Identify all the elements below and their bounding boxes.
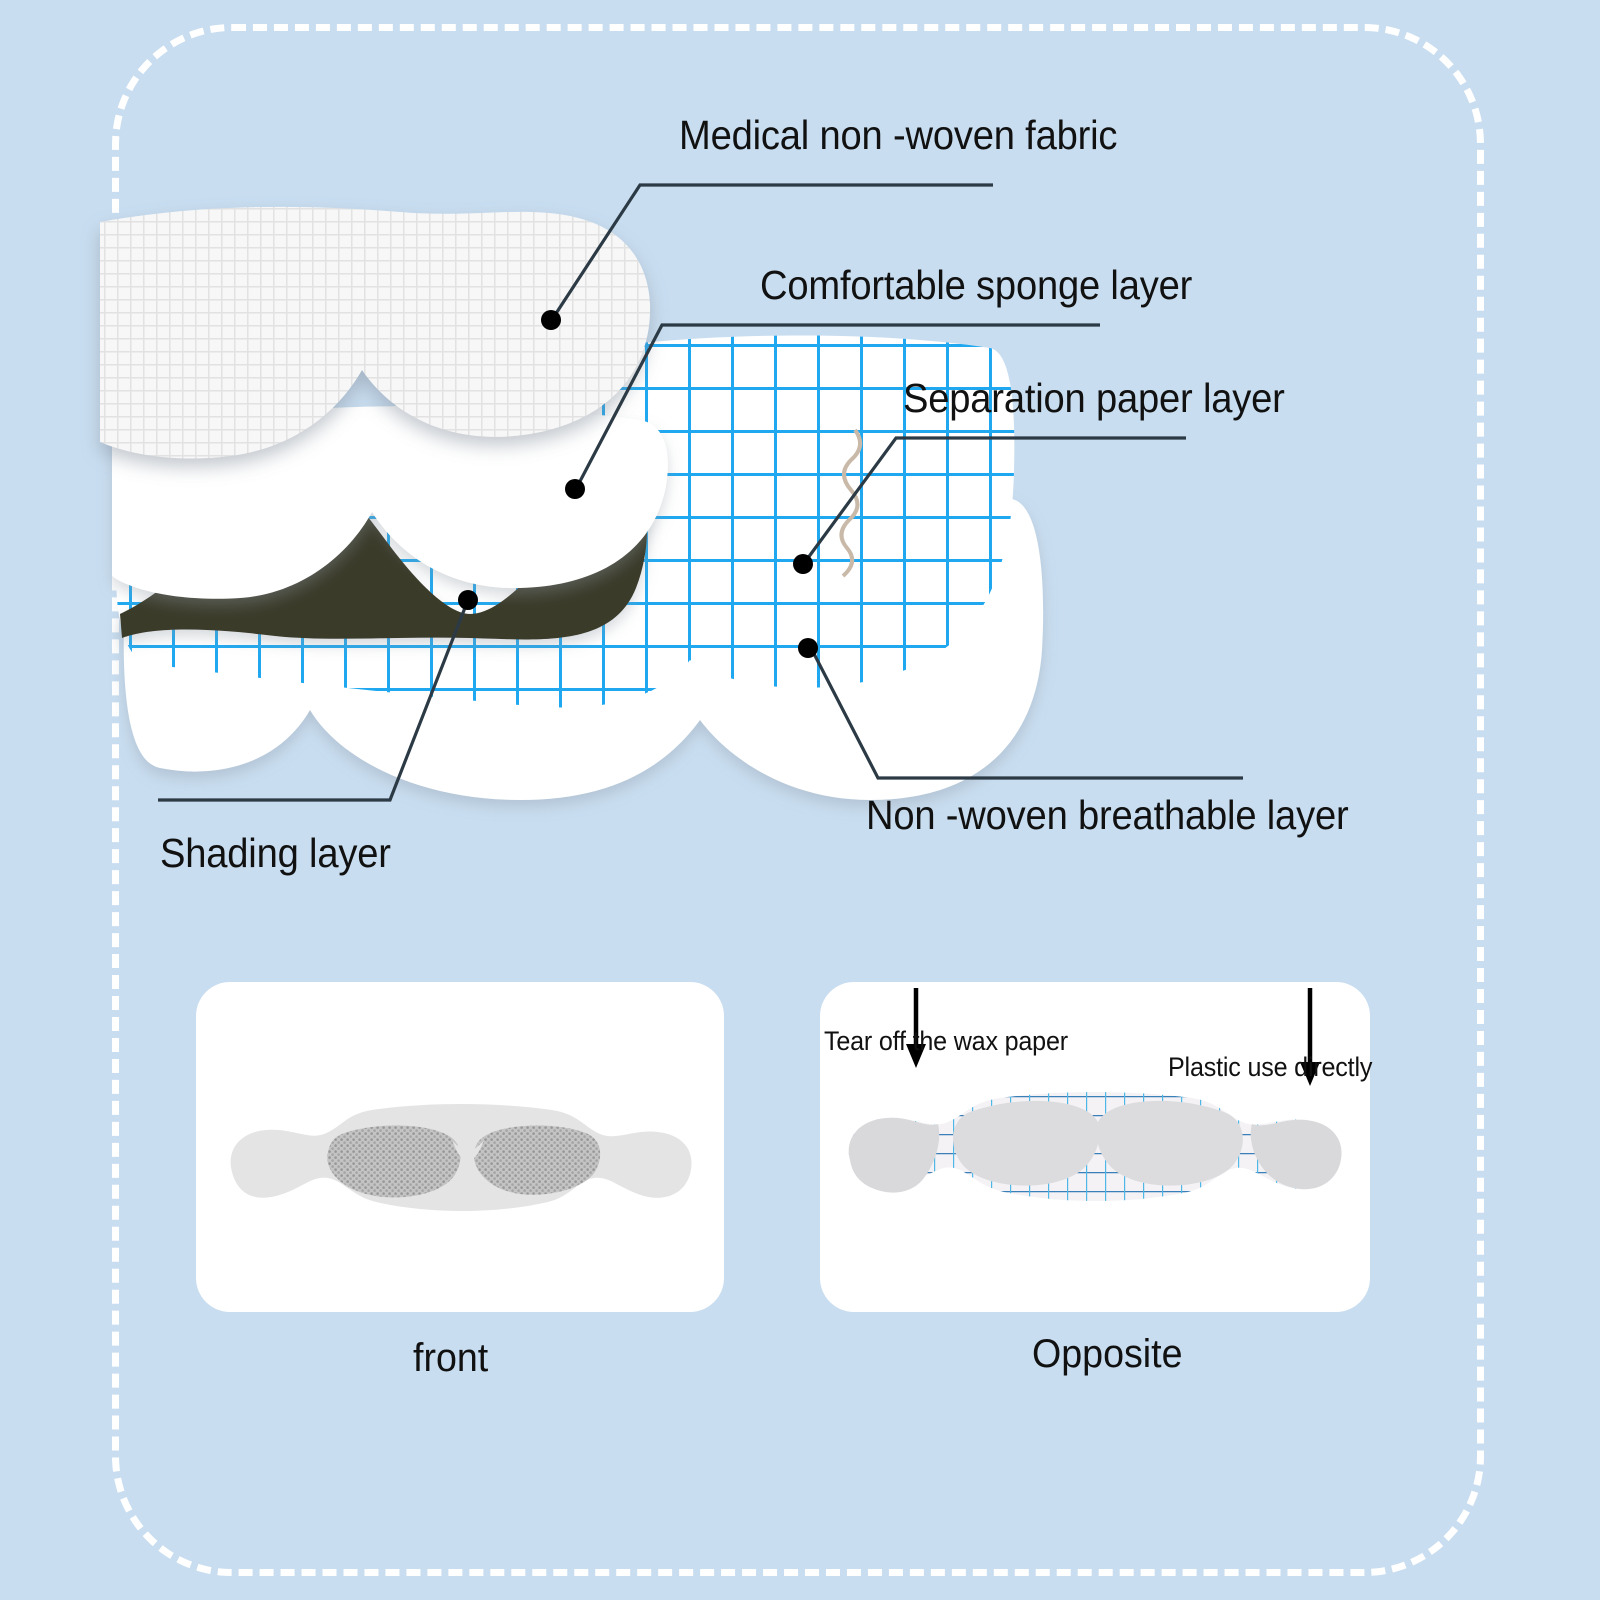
annotation-tear-off-the-wax-paper: Tear off the wax paper <box>824 1028 1068 1055</box>
product-photo-front-card <box>196 982 724 1312</box>
exploded-layer-diagram: Medical non -woven fabric Comfortable sp… <box>0 0 1600 980</box>
label-medical-non-woven-fabric: Medical non -woven fabric <box>679 115 1117 156</box>
dot-comfortable-sponge-layer <box>565 479 585 499</box>
back-peel-tab-left <box>849 1118 939 1193</box>
dot-separation-paper-layer <box>793 554 813 574</box>
label-shading-layer: Shading layer <box>160 833 391 874</box>
front-mask-body <box>231 1104 692 1211</box>
dot-non-woven-breathable-layer <box>798 638 818 658</box>
product-photo-back-card: Tear off the wax paper Plastic use direc… <box>820 982 1370 1312</box>
dot-medical-non-woven-fabric <box>541 310 561 330</box>
label-comfortable-sponge-layer: Comfortable sponge layer <box>760 265 1192 306</box>
product-front-image <box>196 982 724 1312</box>
back-peel-tab-right <box>1251 1120 1342 1189</box>
annotation-plastic-use-directly: Plastic use directly <box>1168 1054 1372 1081</box>
diagram-canvas: Medical non -woven fabric Comfortable sp… <box>0 0 1600 1600</box>
front-eye-pad-right <box>474 1125 600 1194</box>
label-non-woven-breathable-layer: Non -woven breathable layer <box>866 795 1348 836</box>
caption-opposite: Opposite <box>1032 1332 1183 1377</box>
label-separation-paper-layer: Separation paper layer <box>903 378 1285 419</box>
caption-front: front <box>413 1336 488 1381</box>
dot-shading-layer <box>458 590 478 610</box>
